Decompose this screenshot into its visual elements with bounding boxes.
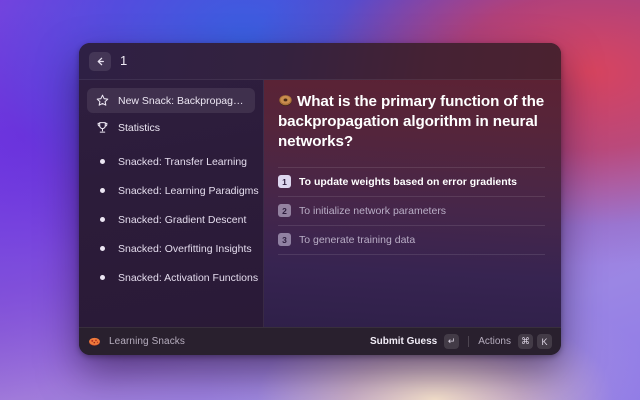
learning-snacks-logo-icon xyxy=(88,335,101,348)
sidebar-item-label: Statistics xyxy=(118,122,160,134)
footer-divider xyxy=(468,336,469,347)
option-label: To generate training data xyxy=(299,234,415,246)
desktop-background: 1 New Snack: Backpropagation B... xyxy=(0,0,640,400)
list-item-snack-transfer-learning[interactable]: Snacked: Transfer Learning xyxy=(87,149,255,174)
bullet-icon xyxy=(94,188,110,193)
app-window: 1 New Snack: Backpropagation B... xyxy=(79,43,561,355)
question-panel: What is the primary function of the back… xyxy=(264,80,561,327)
list-item-snack-gradient-descent[interactable]: Snacked: Gradient Descent xyxy=(87,207,255,232)
sidebar-item-label: New Snack: Backpropagation B... xyxy=(118,95,248,107)
k-key-badge[interactable]: K xyxy=(537,334,552,349)
back-button[interactable] xyxy=(89,52,111,71)
trophy-icon xyxy=(94,120,110,136)
list-item-snack-learning-paradigms[interactable]: Snacked: Learning Paradigms xyxy=(87,178,255,203)
sidebar: New Snack: Backpropagation B... Statisti… xyxy=(79,80,264,327)
option-number-badge: 2 xyxy=(278,204,291,217)
sidebar-divider-space xyxy=(87,142,255,149)
list-item-snack-activation-functions[interactable]: Snacked: Activation Functions xyxy=(87,265,255,290)
command-key-badge[interactable]: ⌘ xyxy=(518,334,533,349)
sidebar-item-statistics[interactable]: Statistics xyxy=(87,115,255,140)
list-item-label: Snacked: Activation Functions xyxy=(118,272,258,284)
answer-option-1[interactable]: 1 To update weights based on error gradi… xyxy=(278,167,545,196)
enter-key-badge[interactable]: ↵ xyxy=(444,334,459,349)
star-icon xyxy=(94,93,110,109)
list-item-label: Snacked: Learning Paradigms xyxy=(118,185,259,197)
question-text-container: What is the primary function of the back… xyxy=(278,92,545,153)
sidebar-item-new-snack[interactable]: New Snack: Backpropagation B... xyxy=(87,88,255,113)
breadcrumb: 1 xyxy=(120,53,127,68)
submit-guess-label[interactable]: Submit Guess xyxy=(370,336,437,347)
window-titlebar: 1 xyxy=(79,43,561,80)
option-label: To initialize network parameters xyxy=(299,205,446,217)
option-number-badge: 3 xyxy=(278,233,291,246)
window-body: New Snack: Backpropagation B... Statisti… xyxy=(79,80,561,327)
list-item-label: Snacked: Transfer Learning xyxy=(118,156,247,168)
question-text: What is the primary function of the back… xyxy=(278,93,544,150)
doughnut-icon xyxy=(278,93,293,108)
list-item-label: Snacked: Gradient Descent xyxy=(118,214,246,226)
bullet-icon xyxy=(94,159,110,164)
window-footer: Learning Snacks Submit Guess ↵ Actions ⌘… xyxy=(79,327,561,355)
option-number-badge: 1 xyxy=(278,175,291,188)
actions-label[interactable]: Actions xyxy=(478,336,511,347)
brand-label: Learning Snacks xyxy=(109,336,185,347)
list-item-snack-overfitting-insights[interactable]: Snacked: Overfitting Insights xyxy=(87,236,255,261)
bullet-icon xyxy=(94,275,110,280)
option-label: To update weights based on error gradien… xyxy=(299,176,517,188)
bullet-icon xyxy=(94,246,110,251)
answer-option-2[interactable]: 2 To initialize network parameters xyxy=(278,196,545,225)
list-item-label: Snacked: Overfitting Insights xyxy=(118,243,252,255)
arrow-left-icon xyxy=(95,56,106,67)
bullet-icon xyxy=(94,217,110,222)
answer-option-3[interactable]: 3 To generate training data xyxy=(278,225,545,255)
